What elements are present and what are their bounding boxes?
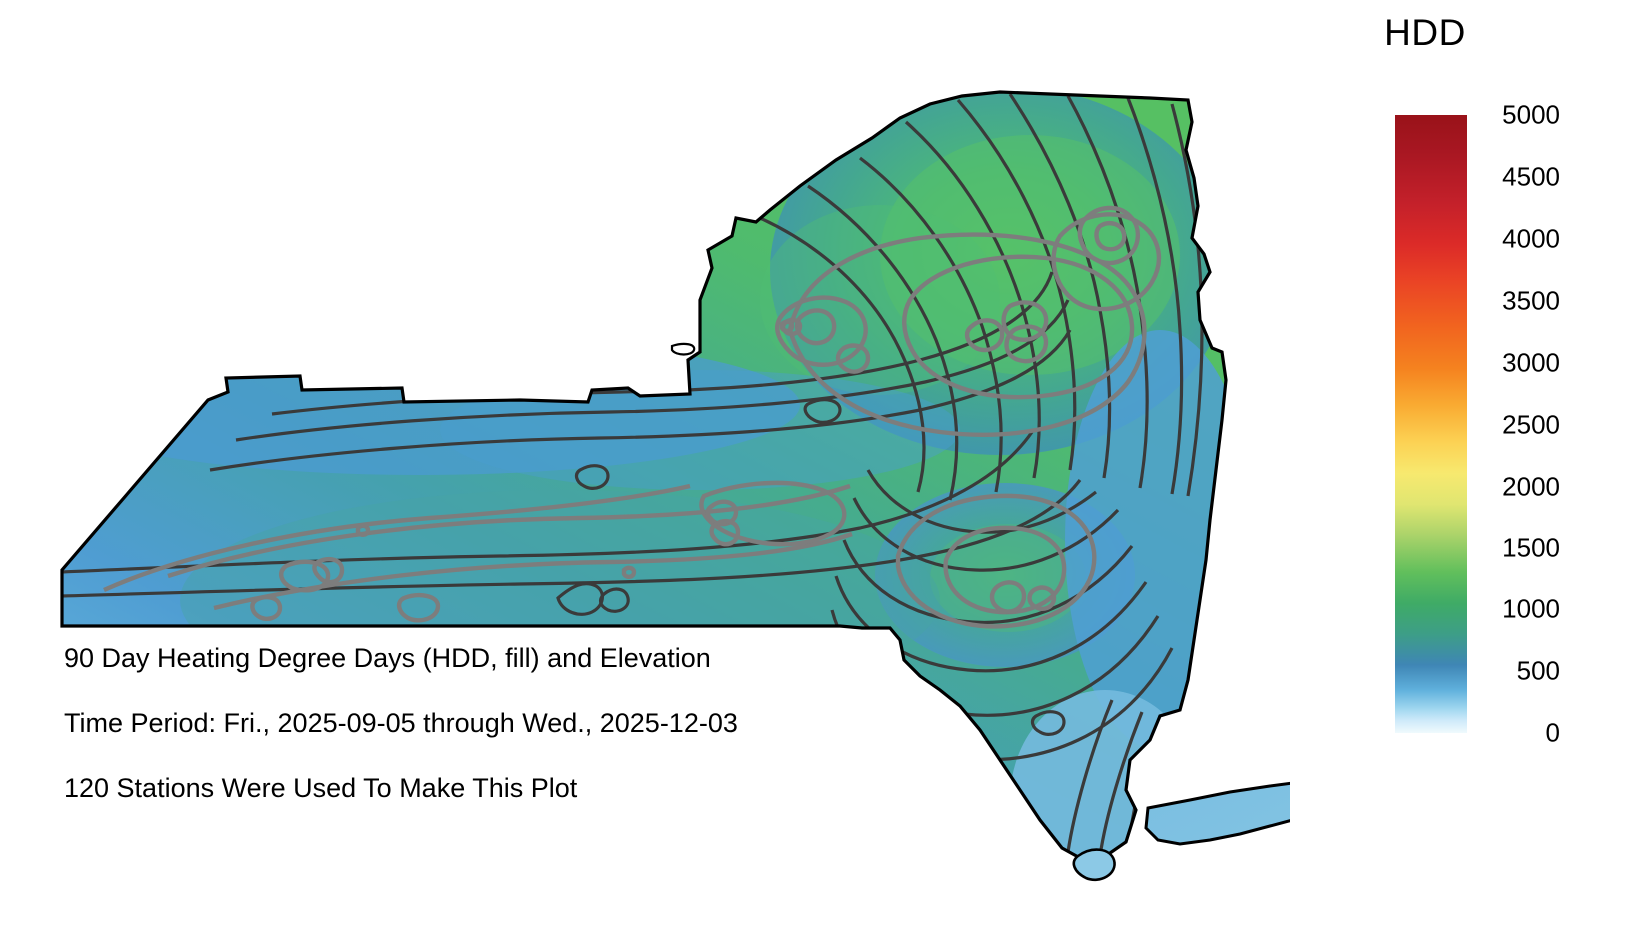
colorbar-tick-1500: 1500 <box>1480 533 1560 564</box>
map-panel <box>0 0 1290 950</box>
annotation-title-line: 90 Day Heating Degree Days (HDD, fill) a… <box>64 645 924 672</box>
colorbar-tick-500: 500 <box>1480 656 1560 687</box>
staten-island <box>1074 850 1115 880</box>
annotation-block: 90 Day Heating Degree Days (HDD, fill) a… <box>64 645 924 802</box>
north-shore-islet <box>672 344 694 355</box>
hdd-colorbar <box>1395 115 1467 733</box>
annotation-stations-line: 120 Stations Were Used To Make This Plot <box>64 775 924 802</box>
colorbar-tick-4000: 4000 <box>1480 224 1560 255</box>
legend-title: HDD <box>1290 12 1560 54</box>
colorbar-tick-2500: 2500 <box>1480 410 1560 441</box>
legend-panel: HDD 5000 4500 4000 3500 3000 2500 2000 1… <box>1290 0 1650 950</box>
colorbar-tick-2000: 2000 <box>1480 472 1560 503</box>
colorbar-tick-0: 0 <box>1480 718 1560 749</box>
colorbar-tick-1000: 1000 <box>1480 594 1560 625</box>
annotation-time-period-line: Time Period: Fri., 2025-09-05 through We… <box>64 710 924 737</box>
colorbar-tick-3000: 3000 <box>1480 348 1560 379</box>
long-island <box>1146 740 1290 844</box>
colorbar-tick-3500: 3500 <box>1480 286 1560 317</box>
colorbar-tick-4500: 4500 <box>1480 162 1560 193</box>
long-island-fill <box>1146 740 1290 844</box>
hdd-elevation-map-figure: 90 Day Heating Degree Days (HDD, fill) a… <box>0 0 1650 950</box>
colorbar-tick-5000: 5000 <box>1480 100 1560 131</box>
new-york-state-map <box>0 0 1290 950</box>
